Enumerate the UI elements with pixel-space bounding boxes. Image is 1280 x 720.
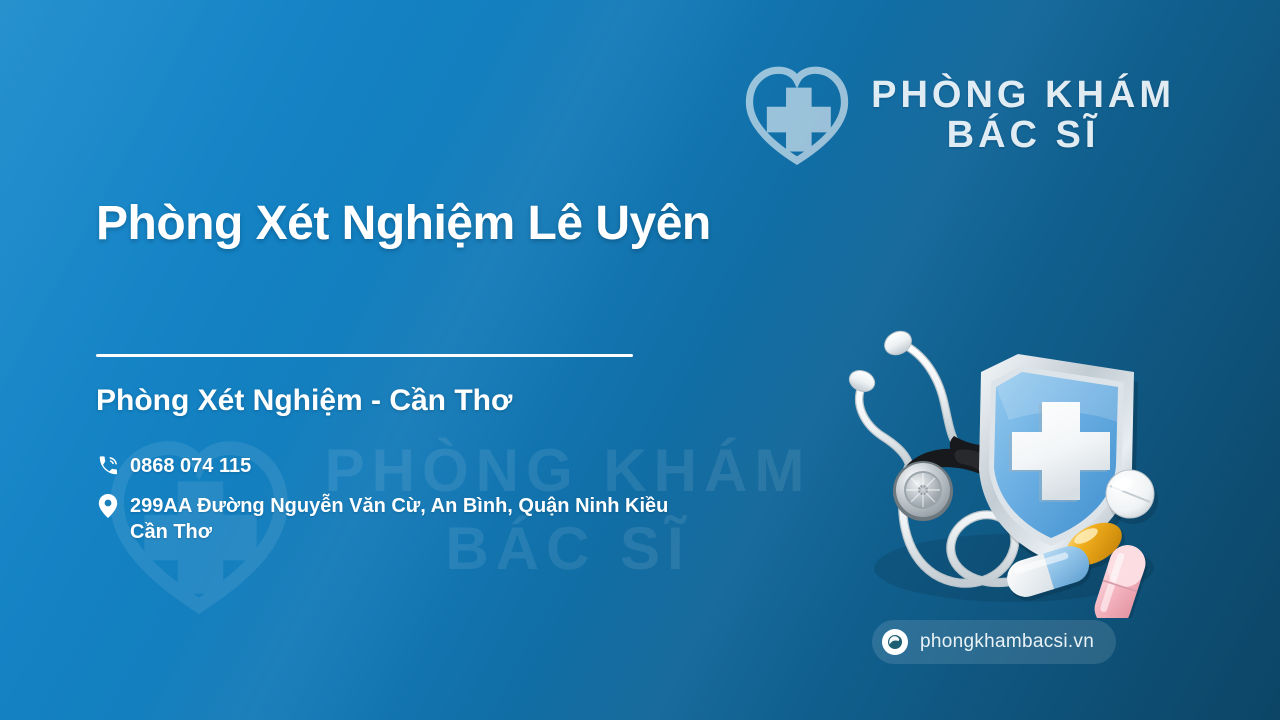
address-text: 299AA Đường Nguyễn Văn Cừ, An Bình, Quận… — [130, 492, 668, 545]
website-badge[interactable]: phongkhambacsi.vn — [872, 620, 1116, 664]
page-subtitle: Phòng Xét Nghiệm - Cần Thơ — [96, 384, 512, 418]
phone-ringing-icon — [94, 452, 122, 480]
contact-row-address[interactable]: 299AA Đường Nguyễn Văn Cừ, An Bình, Quận… — [94, 492, 854, 545]
globe-icon — [882, 629, 908, 655]
brand-logo: PHÒNG KHÁM BÁC SĨ — [741, 62, 1175, 168]
logo-line-2: BÁC SĨ — [947, 115, 1100, 155]
medical-shield-stethoscope-pills-illustration — [846, 318, 1176, 618]
contact-block: 0868 074 115 299AA Đường Nguyễn Văn Cừ, … — [94, 452, 854, 557]
clinic-banner: PHÒNG KHÁM BÁC SĨ PHÒNG KHÁM BÁC SĨ Phòn… — [0, 0, 1280, 720]
page-title: Phòng Xét Nghiệm Lê Uyên — [96, 196, 711, 251]
logo-line-1: PHÒNG KHÁM — [871, 75, 1175, 115]
stethoscope-eartips — [846, 327, 915, 395]
map-pin-icon — [94, 492, 122, 520]
stethoscope-chestpiece — [893, 461, 953, 521]
phone-number: 0868 074 115 — [130, 452, 251, 480]
logo-wordmark: PHÒNG KHÁM BÁC SĨ — [871, 75, 1175, 156]
title-divider — [96, 354, 633, 357]
website-url: phongkhambacsi.vn — [920, 631, 1094, 653]
contact-row-phone[interactable]: 0868 074 115 — [94, 452, 854, 480]
logo-medical-heart-cross-icon — [741, 62, 853, 168]
